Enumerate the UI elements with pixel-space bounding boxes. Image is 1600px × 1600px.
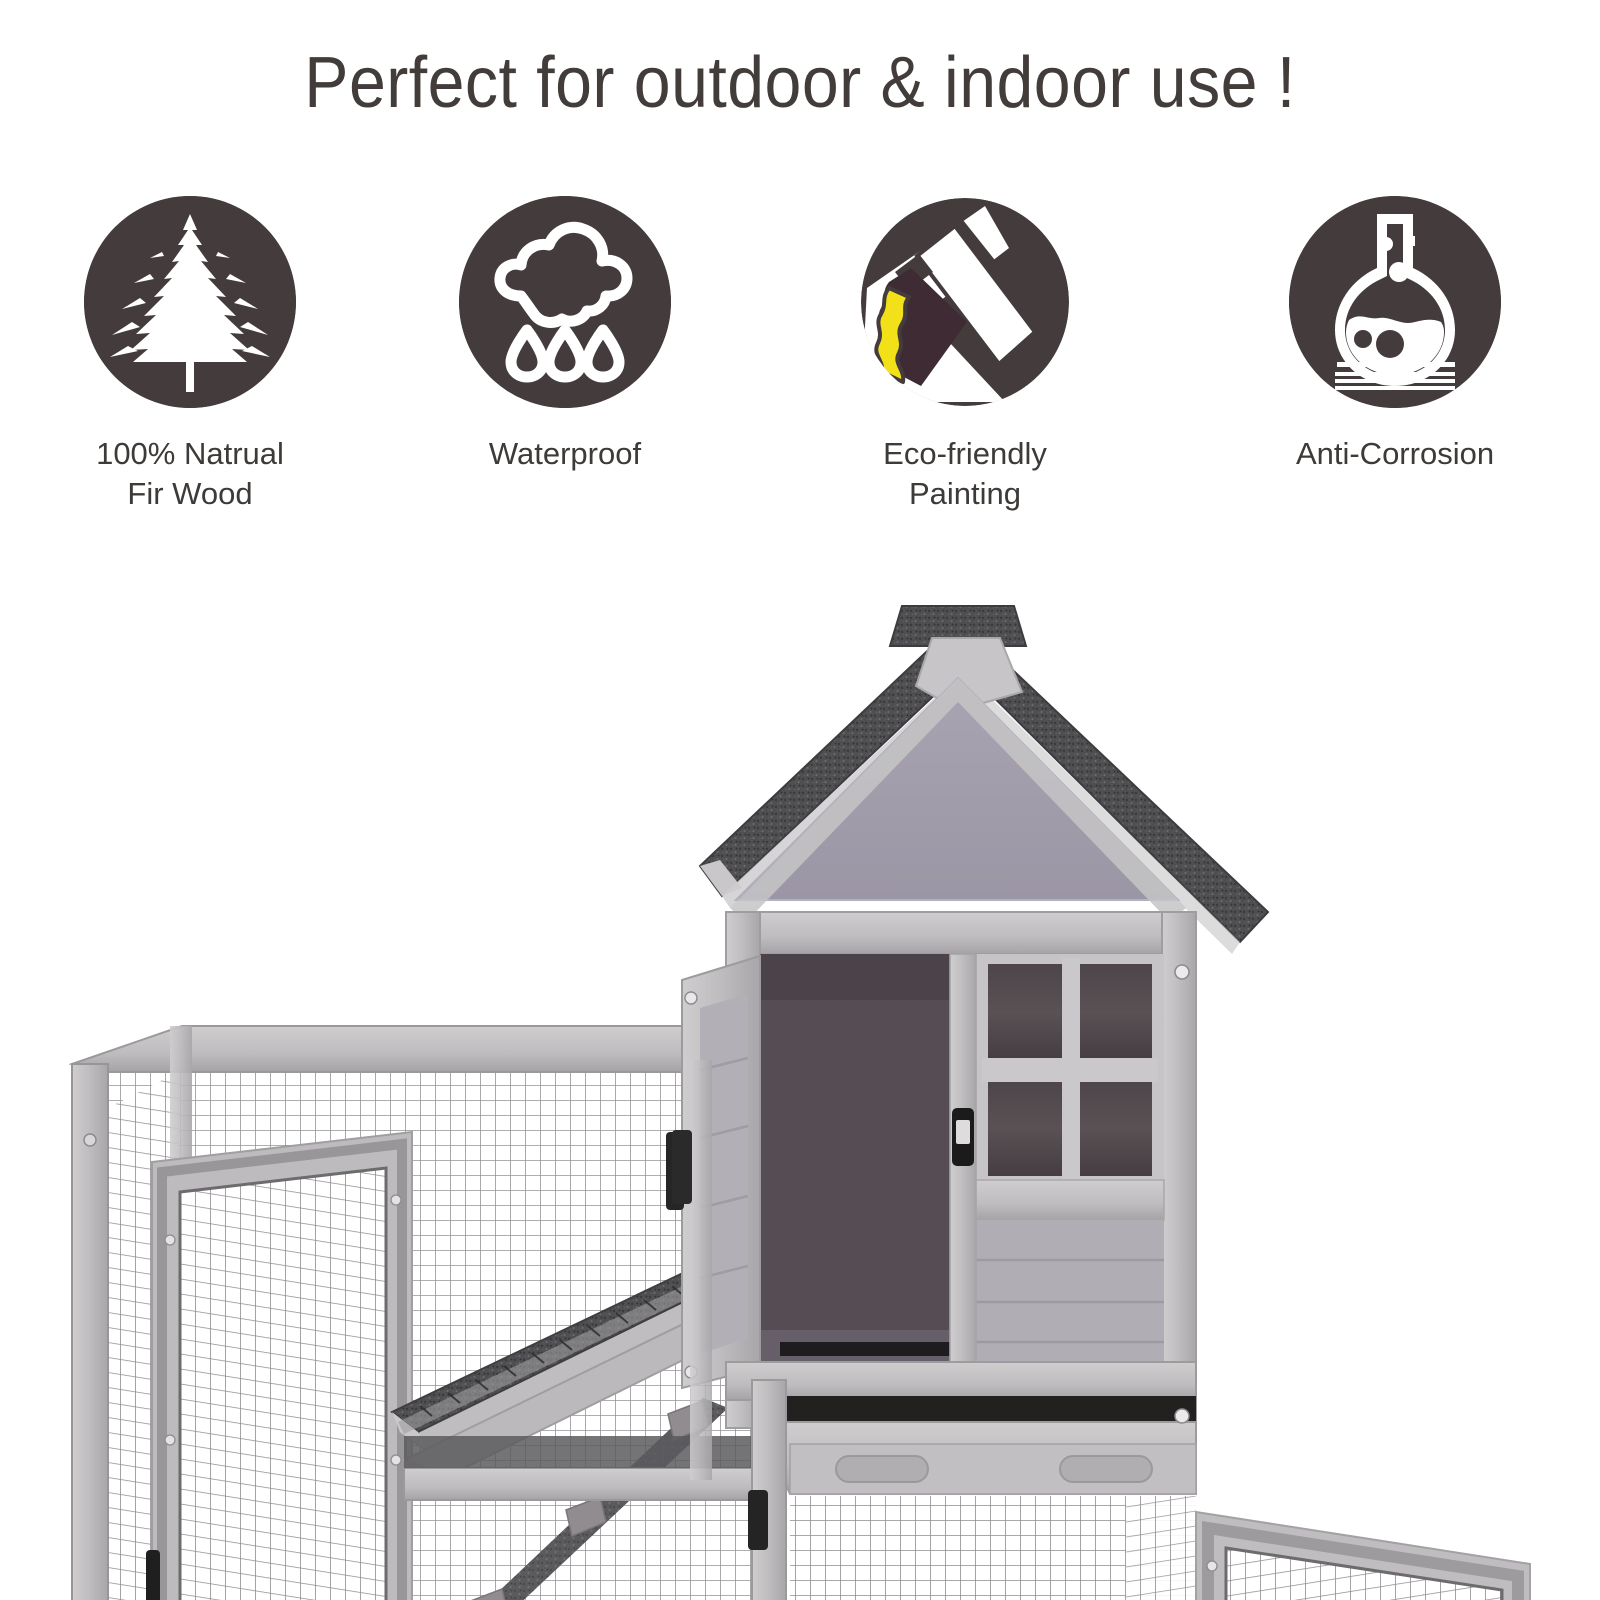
upper-run-latch[interactable] bbox=[672, 1130, 692, 1204]
feature-item-waterproof: Waterproof bbox=[415, 196, 715, 474]
mid-latch[interactable] bbox=[748, 1490, 768, 1550]
page-title: Perfect for outdoor & indoor use ! bbox=[64, 46, 1536, 122]
rain-cloud-icon bbox=[459, 196, 671, 408]
upper-run-post bbox=[690, 1060, 712, 1480]
feature-label-waterproof: Waterproof bbox=[415, 434, 715, 474]
feature-item-fir-wood: 100% Natrual Fir Wood bbox=[40, 196, 340, 513]
left-run-mesh-door[interactable] bbox=[146, 1132, 412, 1600]
feature-item-eco-painting: Eco-friendly Painting bbox=[815, 196, 1115, 513]
product-photo-rabbit-hutch bbox=[0, 560, 1600, 1600]
tray-handle-right[interactable] bbox=[1060, 1456, 1152, 1482]
interior-floor-shadow bbox=[780, 1342, 960, 1356]
screw-head bbox=[84, 1134, 96, 1146]
rain-cloud-badge bbox=[459, 196, 671, 408]
paint-brush-badge bbox=[859, 196, 1071, 408]
chem-flask-badge bbox=[1289, 196, 1501, 408]
pull-out-tray[interactable] bbox=[758, 1396, 1196, 1494]
feature-label-anti-corrosion: Anti-Corrosion bbox=[1245, 434, 1545, 474]
hutch-floor-plate bbox=[726, 1362, 1196, 1400]
right-run-enclosure bbox=[756, 1496, 1196, 1600]
hutch-illustration bbox=[0, 560, 1600, 1600]
nesting-compartment bbox=[760, 954, 980, 1362]
chem-flask-icon bbox=[1289, 196, 1501, 408]
left-door-handle[interactable] bbox=[146, 1550, 160, 1600]
four-pane-window bbox=[968, 954, 1164, 1234]
fir-tree-icon bbox=[84, 196, 296, 408]
paint-brush-icon bbox=[859, 196, 1071, 408]
lower-plank-siding bbox=[968, 1220, 1164, 1362]
feature-badge-row: 100% Natrual Fir Wood Waterproof bbox=[0, 196, 1600, 526]
fir-tree-badge bbox=[84, 196, 296, 408]
screw-head bbox=[1175, 965, 1189, 979]
hutch-main-body bbox=[666, 606, 1268, 1600]
right-run-mesh-door[interactable] bbox=[1196, 1512, 1536, 1600]
tray-handle-left[interactable] bbox=[836, 1456, 928, 1482]
header-beam bbox=[726, 912, 1196, 954]
feature-item-anti-corrosion: Anti-Corrosion bbox=[1245, 196, 1545, 474]
feature-label-eco-painting: Eco-friendly Painting bbox=[815, 434, 1115, 513]
hutch-right-post bbox=[1162, 912, 1196, 1428]
feature-label-fir-wood: 100% Natrual Fir Wood bbox=[40, 434, 340, 513]
